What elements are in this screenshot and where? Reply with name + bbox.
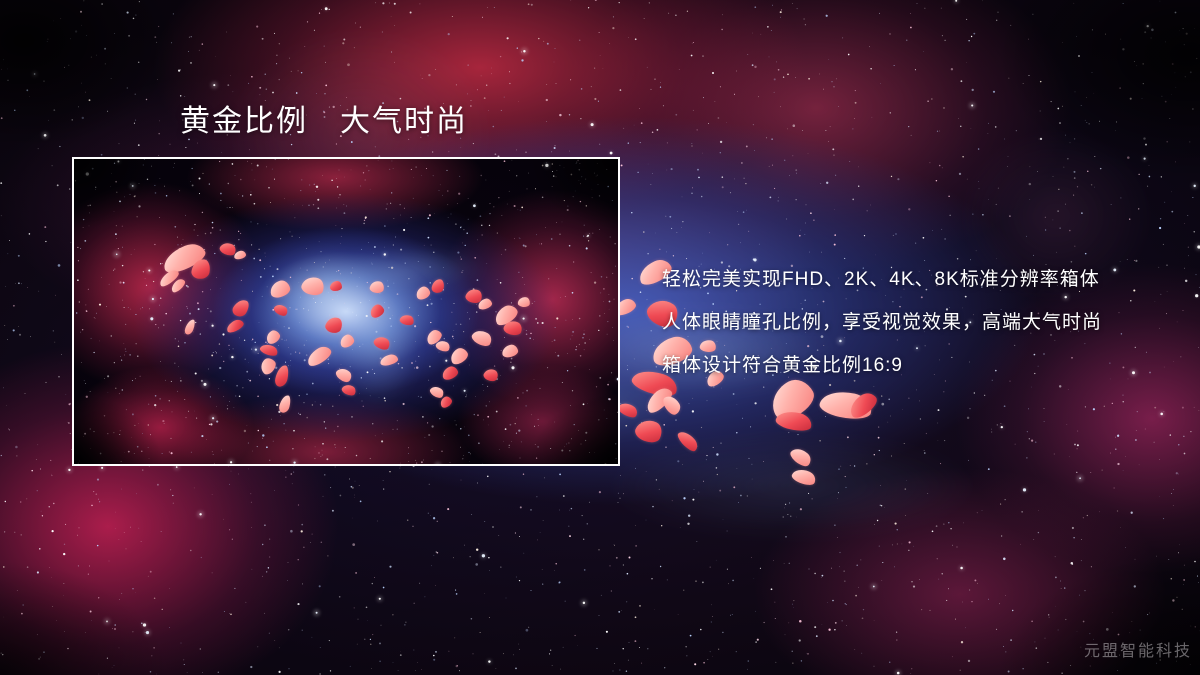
body-line-1: 轻松完美实现FHD、2K、4K、8K标准分辨率箱体 (662, 258, 1182, 301)
slide-body-text: 轻松完美实现FHD、2K、4K、8K标准分辨率箱体 人体眼睛瞳孔比例，享受视觉效… (662, 258, 1182, 387)
framed-product-image[interactable] (72, 157, 620, 466)
picture-corner-shading (74, 159, 618, 464)
body-line-2: 人体眼睛瞳孔比例，享受视觉效果，高端大气时尚 (662, 301, 1182, 344)
company-watermark: 元盟智能科技 (1084, 637, 1192, 661)
petal (330, 281, 342, 291)
presentation-slide: 黄金比例 大气时尚 轻松完美实现FHD、2K、4K、8K标准分辨率箱体 人体眼睛… (0, 0, 1200, 675)
body-line-3: 箱体设计符合黄金比例16:9 (662, 344, 1182, 387)
slide-title: 黄金比例 大气时尚 (180, 102, 468, 141)
